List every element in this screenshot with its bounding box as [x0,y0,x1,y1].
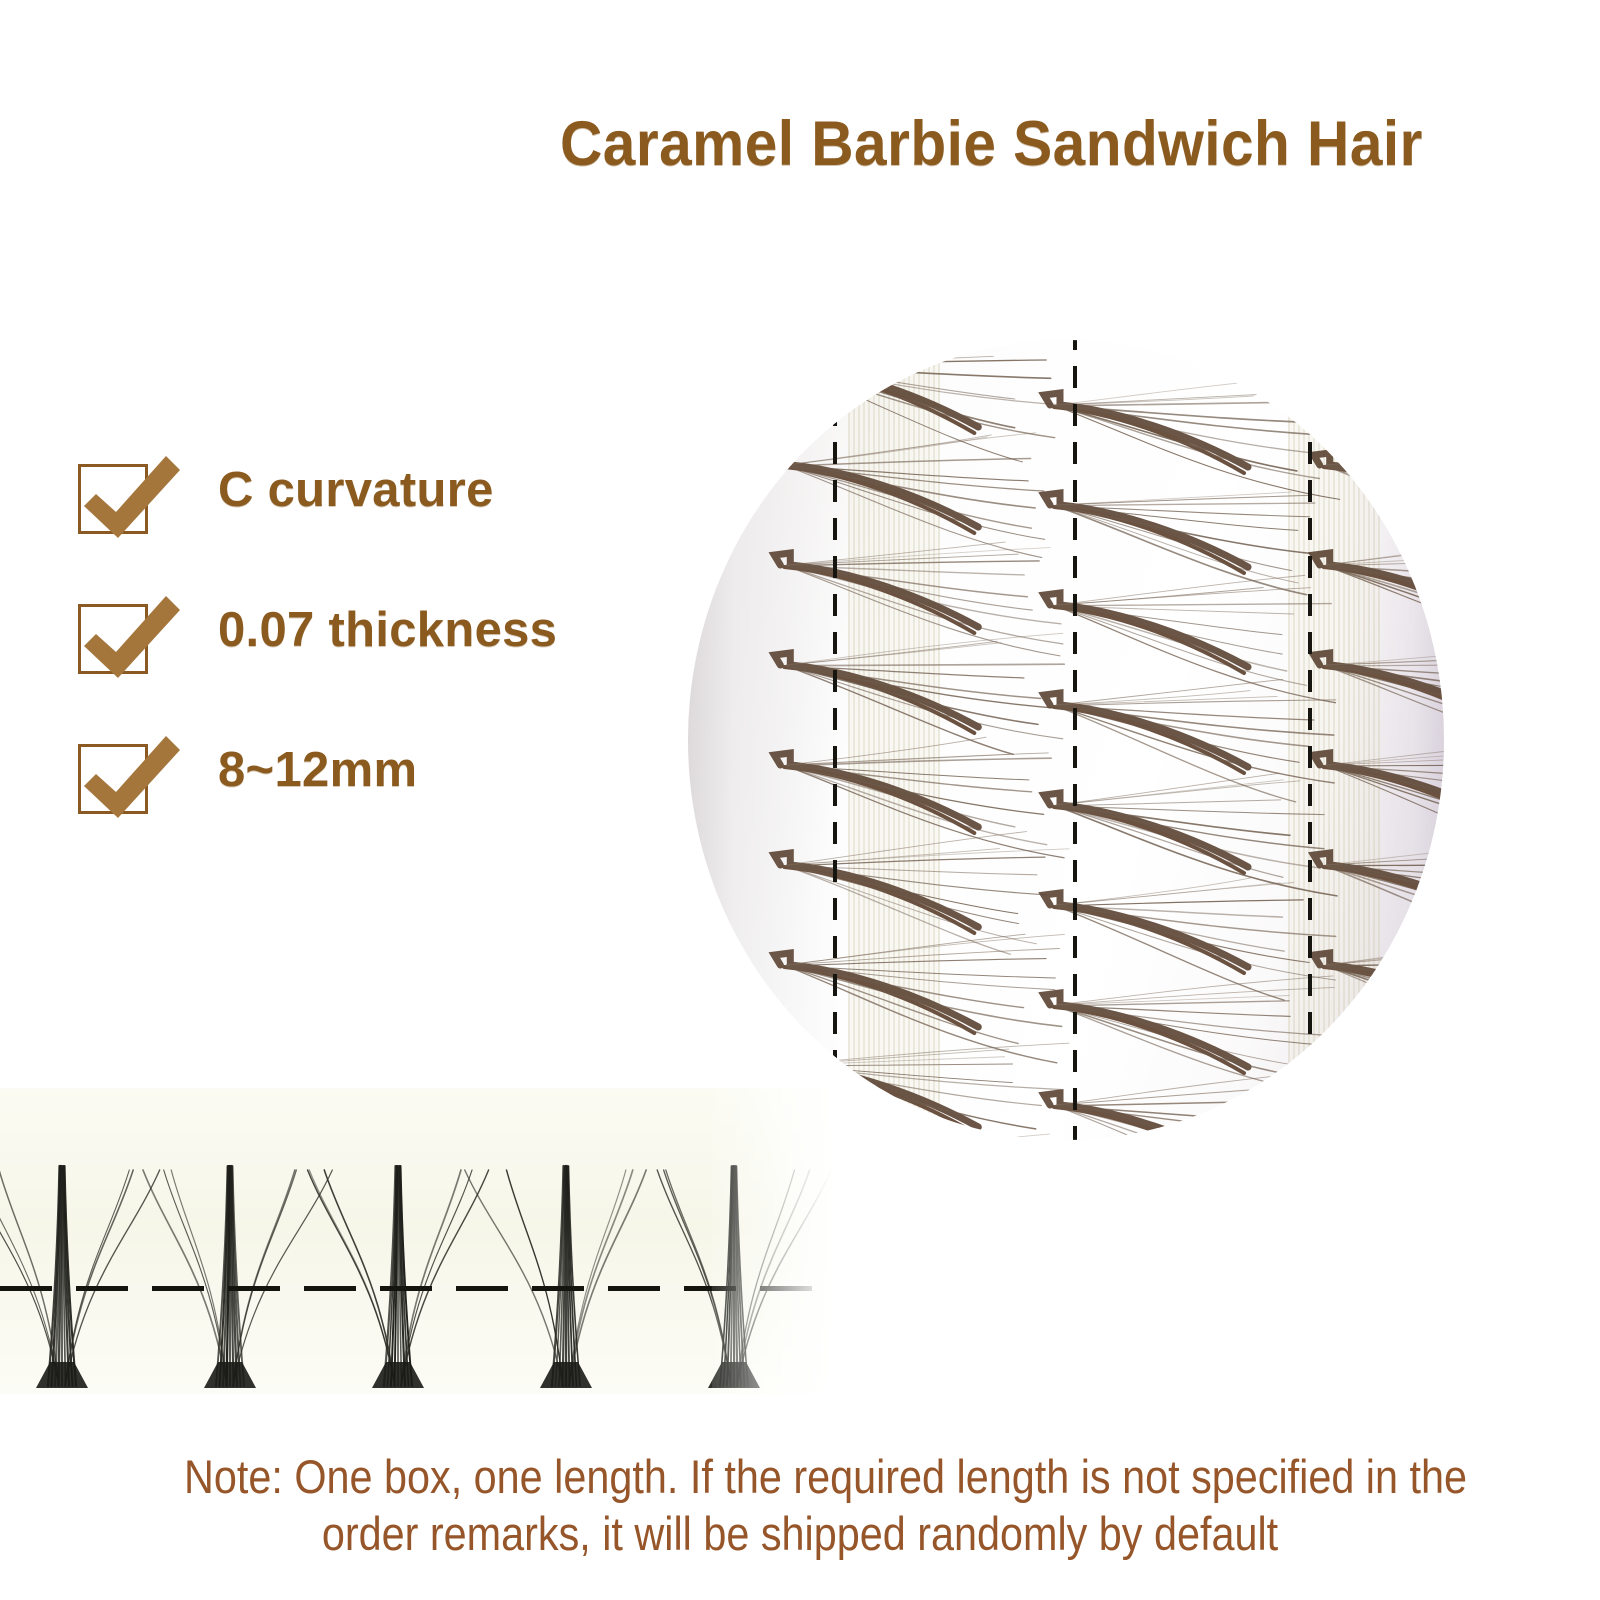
feature-label: 0.07 thickness [218,602,557,658]
strip-dashed-line [0,1286,832,1291]
tray-dash-line [1073,340,1077,1140]
lash-cluster-group [688,340,1444,1140]
feature-label: C curvature [218,462,494,518]
checkbox-checked-icon [78,590,188,690]
lash-tray-circular-photo [688,340,1444,1140]
feature-item-thickness: 0.07 thickness [70,580,630,720]
feature-label: 8~12mm [218,742,417,798]
note-line-1: Note: One box, one length. If the requir… [184,1448,1416,1505]
feature-item-length: 8~12mm [70,720,630,860]
feature-list: C curvature 0.07 thickness 8~12mm [70,440,630,860]
checkbox-checked-icon [78,450,188,550]
strip-right-fade [712,1088,832,1394]
feature-item-c-curvature: C curvature [70,440,630,580]
check-mark-icon [80,450,184,550]
page-title: Caramel Barbie Sandwich Hair [560,108,1453,180]
check-mark-icon [80,590,184,690]
lash-profile-group [0,1088,832,1394]
checkbox-checked-icon [78,730,188,830]
tray-dash-line [833,340,837,1140]
tray-dash-line [1308,340,1312,1140]
check-mark-icon [80,730,184,830]
tray-photo-inner [688,340,1444,1140]
note-line-2: order remarks, it will be shipped random… [184,1505,1416,1562]
footer-note: Note: One box, one length. If the requir… [184,1448,1416,1562]
lash-strip-profile-photo [0,1088,832,1394]
